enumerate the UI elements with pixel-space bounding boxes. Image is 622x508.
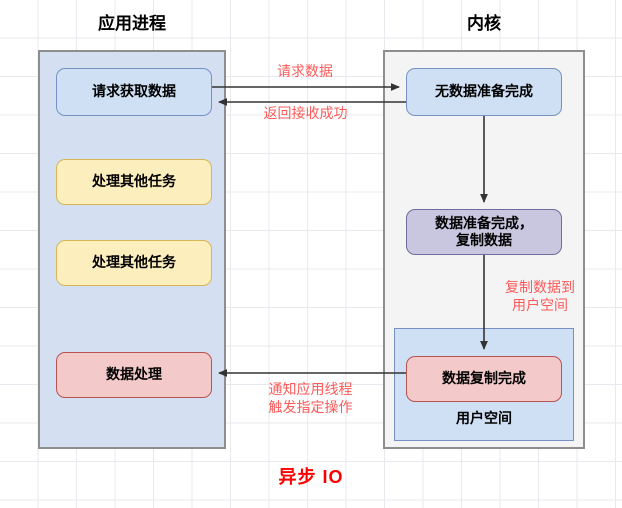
arrow-label-notify-app: 通知应用线程 触发指定操作 — [233, 381, 388, 416]
diagram-footer-title: 异步 IO — [0, 463, 622, 489]
node-request-data[interactable]: 请求获取数据 — [56, 68, 212, 116]
arrow-label-return-ack: 返回接收成功 — [228, 105, 383, 123]
user-space-label: 用户空间 — [394, 408, 574, 428]
arrow-label-copy-to-userspace: 复制数据到 用户空间 — [488, 279, 592, 314]
node-no-data-ready[interactable]: 无数据准备完成 — [406, 68, 562, 116]
app-process-title: 应用进程 — [38, 14, 226, 35]
node-data-ready-copy[interactable]: 数据准备完成， 复制数据 — [406, 209, 562, 255]
node-data-process[interactable]: 数据处理 — [56, 352, 212, 398]
arrow-label-request-data: 请求数据 — [235, 63, 375, 81]
diagram-canvas: 应用进程 内核 请求获取数据 处理其他任务 处理其他任务 数据处理 无数据准备完… — [0, 0, 622, 508]
node-other-task-1[interactable]: 处理其他任务 — [56, 159, 212, 205]
node-copy-done[interactable]: 数据复制完成 — [406, 356, 562, 402]
node-other-task-2[interactable]: 处理其他任务 — [56, 240, 212, 286]
kernel-title: 内核 — [383, 14, 585, 35]
